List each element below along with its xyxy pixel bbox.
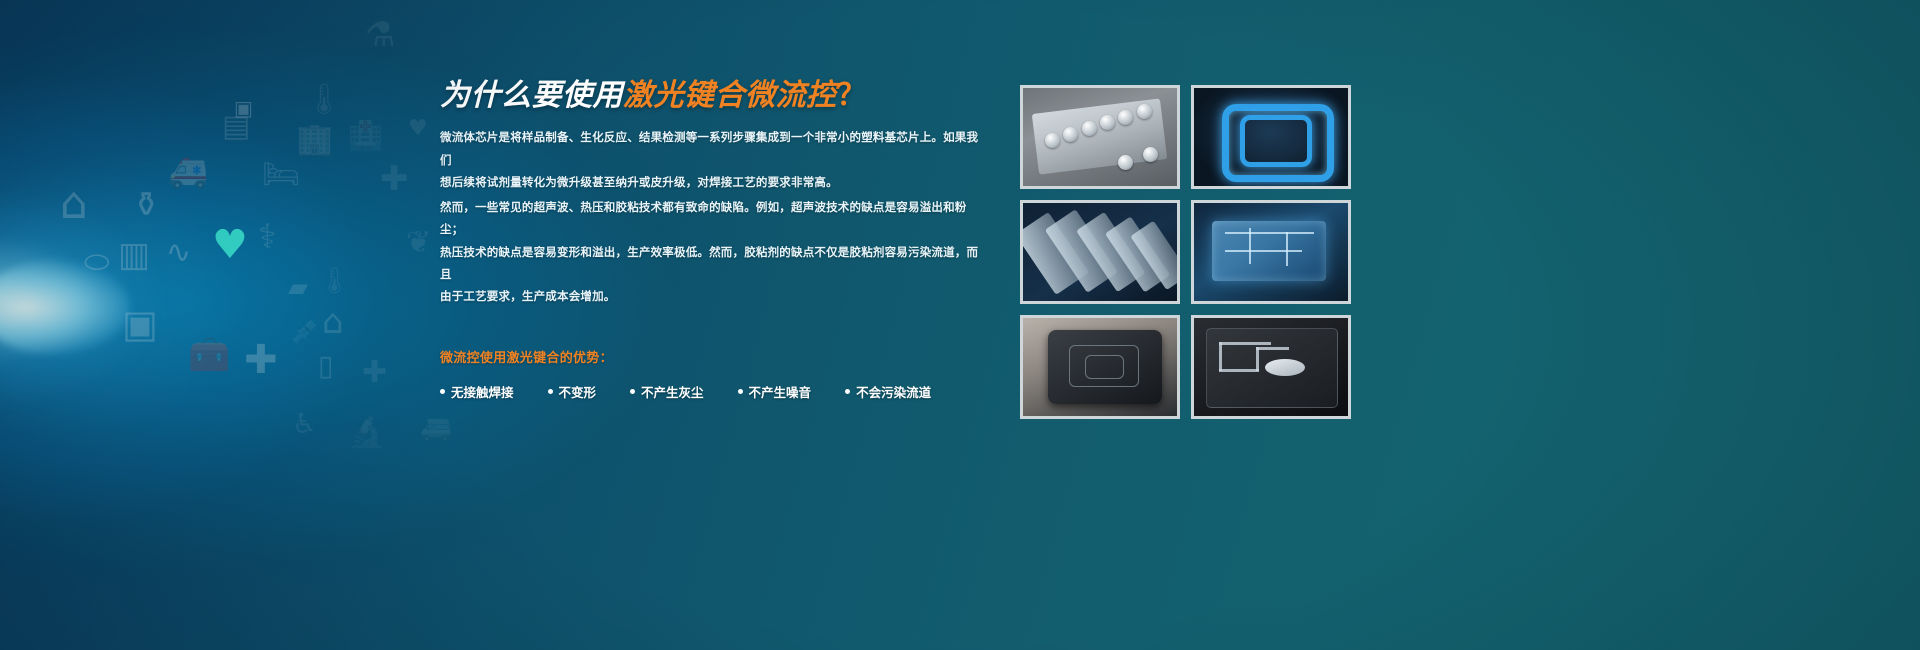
flask-liquid-icon: ⚱ bbox=[132, 188, 161, 222]
bullet-dot-icon bbox=[630, 389, 635, 394]
list-item: 不变形 bbox=[548, 382, 597, 401]
advantages-list: 无接触焊接 不变形 不产生灰尘 不产生噪音 不会污染流道 bbox=[440, 382, 985, 401]
cross-icon: ✚ bbox=[380, 162, 409, 196]
bullet-dot-icon bbox=[548, 389, 553, 394]
wheelchair-icon: ♿ bbox=[292, 410, 317, 438]
lab-rack-icon: ▥ bbox=[118, 238, 150, 272]
black-plate-channels-art bbox=[1194, 318, 1348, 416]
chip-strips-art bbox=[1023, 203, 1177, 301]
list-item-label: 不变形 bbox=[559, 382, 597, 401]
page-title: 为什么要使用激光键合微流控？ bbox=[440, 78, 985, 113]
black-cartridge-art bbox=[1023, 318, 1177, 416]
advantages-subheading: 微流控使用激光键合的优势： bbox=[440, 347, 985, 366]
clipboard-icon: ▣ bbox=[234, 98, 253, 118]
ambulance-icon: 🚑 bbox=[168, 155, 208, 187]
paragraph-line: 由于工艺要求，生产成本会增加。 bbox=[440, 286, 985, 308]
text-column: 为什么要使用激光键合微流控？ 微流体芯片是将样品制备、生化反应、结果检测等一系列… bbox=[440, 78, 985, 401]
thermometer-icon: 🌡 bbox=[318, 268, 351, 294]
title-highlight: 激光键合微流控 bbox=[623, 79, 837, 112]
gallery-image-microfluidic-chip-wells-photo bbox=[1020, 85, 1180, 189]
gallery-image-microfluidic-black-plate-channels-photo bbox=[1191, 315, 1351, 419]
kidney-icon: ❦ bbox=[406, 228, 431, 258]
title-question-mark: ？ bbox=[837, 79, 868, 112]
list-item: 不产生灰尘 bbox=[630, 382, 704, 401]
syringe-icon: 💉 bbox=[290, 318, 322, 344]
cross-solid-icon: ✚ bbox=[244, 340, 278, 380]
home-plus-icon: ⌂ bbox=[60, 182, 88, 226]
list-item-label: 不产生灰尘 bbox=[641, 382, 704, 401]
chip-wells-art bbox=[1023, 88, 1177, 186]
bandage-icon: ▰ bbox=[288, 275, 308, 301]
briefcase-icon: 🧰 bbox=[188, 338, 230, 372]
list-item: 无接触焊接 bbox=[440, 382, 514, 401]
gallery-image-microfluidic-serpentine-channel-glow-photo bbox=[1191, 85, 1351, 189]
bullet-dot-icon bbox=[440, 389, 445, 394]
hospital-icon: 🏥 bbox=[348, 122, 383, 150]
van-icon: 🚐 bbox=[420, 415, 452, 441]
title-prefix: 为什么要使用 bbox=[440, 79, 623, 112]
gallery-image-microfluidic-chip-strips-photo bbox=[1020, 200, 1180, 304]
light-beam-core bbox=[0, 260, 130, 355]
heart-monitor-icon: ♥ bbox=[212, 225, 248, 265]
paragraph-line: 微流体芯片是将样品制备、生化反应、结果检测等一系列步骤集成到一个非常小的塑料基芯… bbox=[440, 127, 985, 172]
hospital-home-icon: ⌂ bbox=[322, 305, 344, 339]
list-item-label: 不会污染流道 bbox=[856, 382, 931, 401]
pulse-line-icon: ∿ bbox=[166, 238, 191, 268]
gallery-image-microfluidic-transparent-manifold-photo bbox=[1191, 200, 1351, 304]
body-paragraphs: 微流体芯片是将样品制备、生化反应、结果检测等一系列步骤集成到一个非常小的塑料基芯… bbox=[440, 127, 985, 308]
bullet-dot-icon bbox=[738, 389, 743, 394]
microscope-icon: 🔬 bbox=[348, 418, 385, 448]
paragraph-line: 然而，一些常见的超声波、热压和胶粘技术都有致命的缺陷。例如，超声波技术的缺点是容… bbox=[440, 197, 985, 242]
plus-small-icon: ✚ bbox=[362, 358, 387, 388]
paragraph-line: 想后续将试剂量转化为微升级甚至纳升或皮升级，对焊接工艺的要求非常高。 bbox=[440, 172, 985, 194]
gallery-image-microfluidic-black-cartridge-in-hand-photo bbox=[1020, 315, 1180, 419]
bed-icon: 🛏 bbox=[262, 160, 300, 190]
product-image-gallery bbox=[1020, 85, 1350, 419]
id-card-icon: ▤ bbox=[222, 112, 250, 142]
test-tube-icon: 🌡 bbox=[305, 85, 343, 115]
stethoscope-icon: ⚕ bbox=[258, 220, 276, 254]
list-item: 不会污染流道 bbox=[845, 382, 931, 401]
list-item-label: 无接触焊接 bbox=[451, 382, 514, 401]
list-item-label: 不产生噪音 bbox=[749, 382, 812, 401]
flask-icon: ⚗ bbox=[365, 18, 395, 52]
building-icon: 🏢 bbox=[296, 125, 333, 155]
heart-pulse-icon: ♥ bbox=[408, 118, 428, 140]
bullet-dot-icon bbox=[845, 389, 850, 394]
list-item: 不产生噪音 bbox=[738, 382, 812, 401]
transparent-manifold-art bbox=[1194, 203, 1348, 301]
banner-root: ⚗🌡♥▤▣🏢🏥🚑🛏✚⌂⚱⚕♥∿❦▥⬭▰🌡▣⌂💉🧰✚▯✚🔬♿🚐 为什么要使用激光键… bbox=[0, 0, 1920, 650]
paragraph-line: 热压技术的缺点是容易变形和溢出，生产效率极低。然而，胶粘剂的缺点不仅是胶粘剂容易… bbox=[440, 242, 985, 287]
serpentine-channel-art bbox=[1194, 88, 1348, 186]
battery-icon: ▯ bbox=[318, 352, 333, 380]
